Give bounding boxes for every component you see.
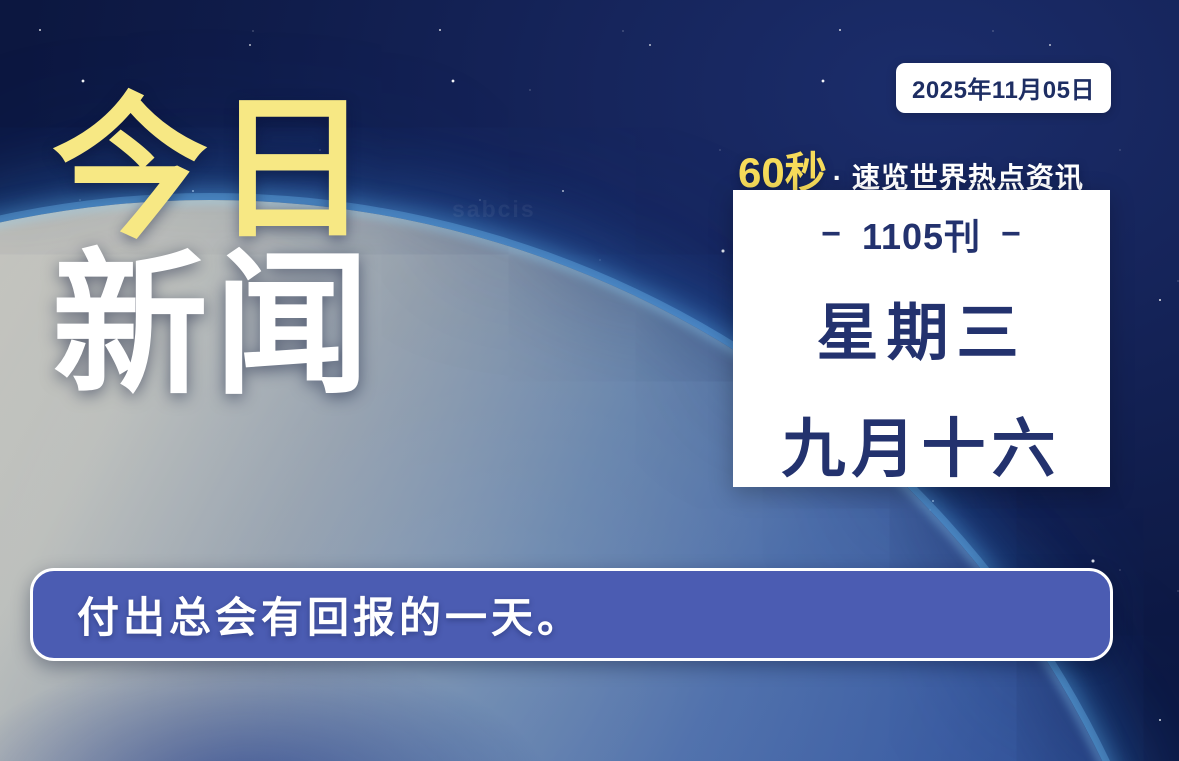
news-poster: sabcis 今日 新闻 2025年11月05日 60秒 · 速览世界热点资讯 … (0, 0, 1179, 761)
daily-quote-text: 付出总会有回报的一天。 (77, 584, 583, 645)
issue-dash-left-icon: − (821, 217, 842, 251)
brand-title-line-1: 今日 (52, 96, 376, 244)
daily-quote-bar: 付出总会有回报的一天。 (30, 568, 1113, 661)
issue-number: 1105刊 (862, 208, 981, 260)
weekday-label: 星期三 (816, 282, 1026, 372)
brand-title: 今日 新闻 (52, 96, 376, 400)
issue-number-row: − 1105刊 − (821, 208, 1022, 260)
poster-content: 今日 新闻 2025年11月05日 60秒 · 速览世界热点资讯 − 1105刊… (0, 0, 1179, 761)
date-badge: 2025年11月05日 (896, 63, 1111, 113)
lunar-date-label: 九月十六 (782, 398, 1062, 490)
issue-dash-right-icon: − (1001, 217, 1022, 251)
issue-info-card: − 1105刊 − 星期三 九月十六 (733, 190, 1110, 487)
brand-title-line-2: 新闻 (52, 252, 376, 400)
